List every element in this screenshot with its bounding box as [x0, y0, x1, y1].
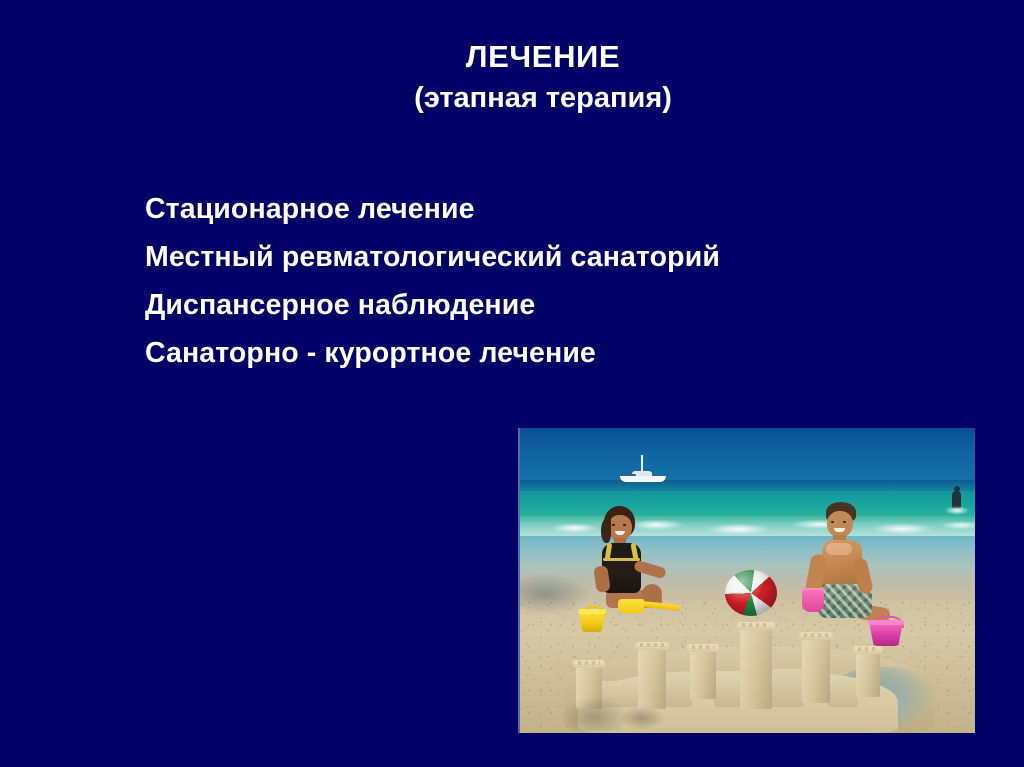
yellow-bucket-body: [579, 611, 605, 632]
pink-bucket-body: [869, 622, 903, 646]
list-item: Местный ревматологический санаторий: [145, 233, 905, 281]
shovel-blade: [618, 599, 644, 613]
sandcastle-wall: [828, 679, 858, 707]
sandcastle-tower: [740, 627, 772, 709]
sandcastle-wall: [770, 669, 804, 707]
slide-canvas: ЛЕЧЕНИЕ (этапная терапия) Стационарное л…: [0, 0, 1024, 767]
list-item: Стационарное лечение: [145, 185, 905, 233]
sandcastle-tower: [802, 637, 830, 703]
sandcastle-tower: [856, 651, 880, 697]
sailboat-hull: [620, 476, 666, 482]
sandcastle-tower: [690, 649, 716, 699]
sandcastle-wall: [714, 677, 742, 707]
beach-ball: [725, 570, 777, 616]
beach-ball-sphere: [725, 570, 777, 616]
sandcastle-tower: [638, 647, 666, 709]
slide-title-block: ЛЕЧЕНИЕ (этапная терапия): [0, 38, 1024, 117]
boy-shoulder-highlight: [826, 543, 852, 555]
shovel-handle: [641, 601, 681, 611]
boy-face: [827, 511, 853, 538]
boy-child: [802, 502, 900, 628]
girl-eye: [612, 524, 615, 526]
bullet-list: Стационарное лечение Местный ревматологи…: [145, 185, 905, 377]
girl-hair-strand: [601, 519, 611, 543]
sandcastle-shadow: [562, 697, 628, 731]
boy-eye: [843, 521, 846, 523]
girl-swimsuit-trim: [603, 558, 640, 561]
sky-region: [520, 428, 975, 481]
list-item: Диспансерное наблюдение: [145, 281, 905, 329]
page-title: ЛЕЧЕНИЕ: [62, 38, 1024, 76]
sandcastle-wall: [664, 673, 692, 707]
dug-sand-hollow: [620, 707, 664, 729]
pink-bucket: [868, 616, 904, 646]
yellow-bucket: [578, 606, 606, 632]
girl-eye: [623, 524, 626, 526]
pink-bucket-rim: [868, 620, 904, 625]
list-item: Санаторно - курортное лечение: [145, 329, 905, 377]
wading-person: [950, 486, 963, 516]
page-subtitle: (этапная терапия): [62, 79, 1024, 117]
sailboat-icon: [620, 455, 666, 482]
yellow-bucket-rim: [578, 609, 606, 614]
water-splash: [944, 506, 970, 515]
yellow-shovel: [618, 598, 680, 614]
pink-toy: [802, 590, 824, 612]
beach-photo: [518, 428, 975, 733]
boy-eye: [831, 521, 834, 523]
beach-photo-content: [520, 428, 975, 733]
